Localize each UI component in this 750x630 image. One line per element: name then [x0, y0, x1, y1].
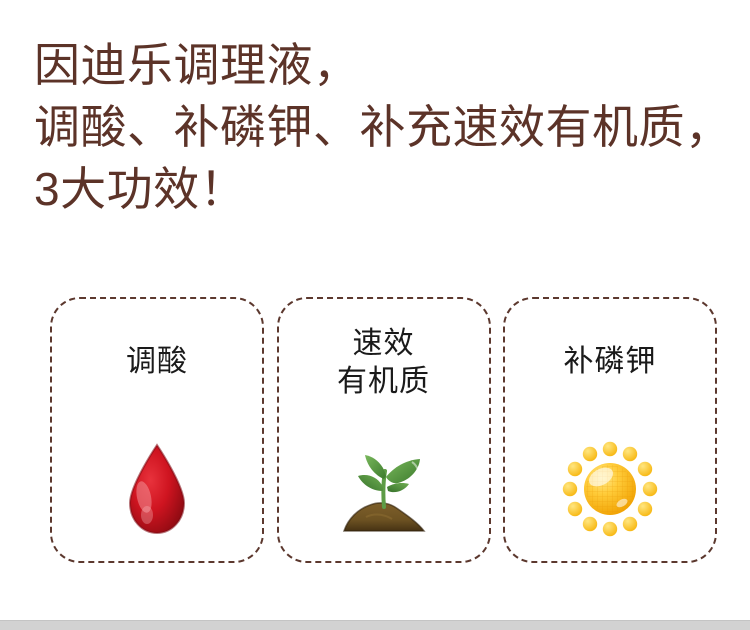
blood-drop-icon	[109, 441, 205, 537]
sun-sphere-icon	[562, 441, 658, 537]
page-title: 因迪乐调理液， 调酸、补磷钾、补充速效有机质， 3大功效！	[34, 34, 734, 220]
feature-card-label-line-1: 速效	[337, 325, 430, 363]
bottom-divider-bar	[0, 620, 750, 630]
headline-line-3: 3大功效！	[34, 158, 734, 220]
feature-card-label: 补磷钾	[564, 343, 657, 381]
feature-card-label: 速效 有机质	[337, 325, 430, 401]
promo-page: 因迪乐调理液， 调酸、补磷钾、补充速效有机质， 3大功效！ 调酸	[0, 0, 750, 630]
feature-card-row: 调酸	[50, 297, 717, 563]
feature-card-label-line-1: 调酸	[126, 343, 188, 381]
feature-card-label-line-1: 补磷钾	[564, 343, 657, 381]
headline-line-2: 调酸、补磷钾、补充速效有机质，	[34, 96, 734, 158]
feature-card-bu-lin-jia[interactable]: 补磷钾	[503, 297, 717, 563]
feature-card-tiao-suan[interactable]: 调酸	[50, 297, 264, 563]
feature-card-su-xiao-you-ji-zhi[interactable]: 速效 有机质	[277, 297, 491, 563]
feature-card-label: 调酸	[126, 343, 188, 381]
feature-card-label-line-2: 有机质	[337, 363, 430, 401]
sprout-in-soil-icon	[336, 441, 432, 537]
headline-line-1: 因迪乐调理液，	[34, 34, 734, 96]
